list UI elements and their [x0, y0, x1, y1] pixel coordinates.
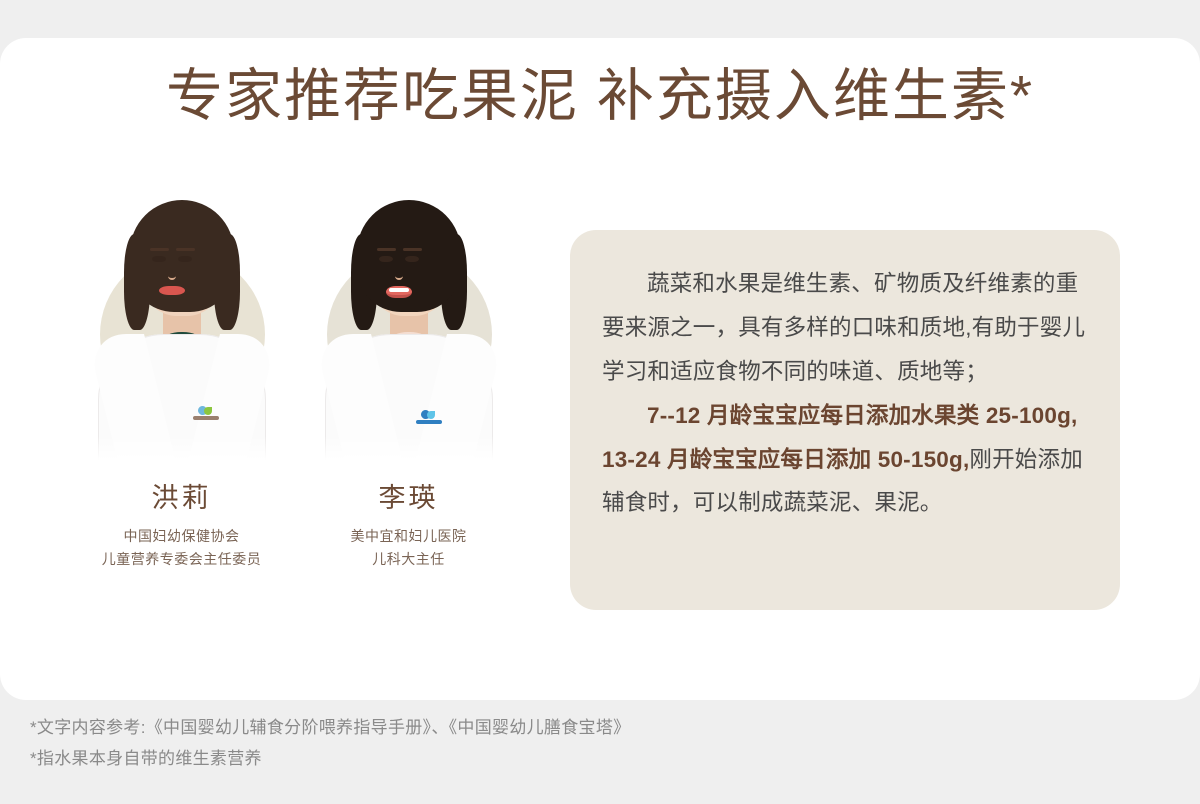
credential-line-1: 美中宜和妇儿医院 — [351, 525, 467, 548]
eyebrow-left — [150, 248, 169, 251]
expert-card: 洪莉 中国妇幼保健协会 儿童营养专委会主任委员 — [79, 192, 284, 571]
portrait-fade — [319, 436, 499, 462]
nose — [168, 272, 176, 280]
eyebrow-right — [176, 248, 195, 251]
footnote-1: *文字内容参考:《中国婴幼儿辅食分阶喂养指导手册》、《中国婴幼儿膳食宝塔》 — [30, 712, 1170, 743]
promo-page: 专家推荐吃果泥 补充摄入维生素* — [0, 0, 1200, 804]
mouth — [159, 286, 185, 295]
doctor-credentials: 中国妇幼保健协会 儿童营养专委会主任委员 — [102, 525, 262, 571]
eyebrow-right — [403, 248, 422, 251]
doctor-name: 李瑛 — [379, 476, 439, 515]
footnotes: *文字内容参考:《中国婴幼儿辅食分阶喂养指导手册》、《中国婴幼儿膳食宝塔》 *指… — [30, 712, 1170, 775]
credential-line-2: 儿童营养专委会主任委员 — [102, 548, 262, 571]
nutrition-info-box: 蔬菜和水果是维生素、矿物质及纤维素的重要来源之一，具有多样的口味和质地,有助于婴… — [570, 230, 1120, 610]
info-paragraph-1: 蔬菜和水果是维生素、矿物质及纤维素的重要来源之一，具有多样的口味和质地,有助于婴… — [602, 262, 1086, 394]
portrait-fade — [92, 436, 272, 462]
portrait-figure — [319, 192, 499, 462]
eye-left — [152, 256, 166, 262]
credential-line-2: 儿科大主任 — [351, 548, 467, 571]
doctor-portrait-hongli — [92, 192, 272, 462]
experts-section: 洪莉 中国妇幼保健协会 儿童营养专委会主任委员 — [60, 192, 530, 571]
hospital-logo-icon — [192, 406, 222, 422]
doctor-portrait-liying — [319, 192, 499, 462]
info-paragraph-2: 7--12 月龄宝宝应每日添加水果类 25-100g, 13-24 月龄宝宝应每… — [602, 394, 1086, 526]
teeth — [389, 288, 409, 292]
footnote-2: *指水果本身自带的维生素营养 — [30, 743, 1170, 774]
eye-right — [178, 256, 192, 262]
portrait-figure — [92, 192, 272, 462]
eye-right — [405, 256, 419, 262]
eye-left — [379, 256, 393, 262]
nose — [395, 272, 403, 280]
hospital-logo-icon — [415, 410, 445, 426]
doctor-name: 洪莉 — [152, 476, 212, 515]
credential-line-1: 中国妇幼保健协会 — [102, 525, 262, 548]
page-title: 专家推荐吃果泥 补充摄入维生素* — [0, 62, 1200, 130]
expert-card: 李瑛 美中宜和妇儿医院 儿科大主任 — [306, 192, 511, 571]
eyebrow-left — [377, 248, 396, 251]
doctor-credentials: 美中宜和妇儿医院 儿科大主任 — [351, 525, 467, 571]
